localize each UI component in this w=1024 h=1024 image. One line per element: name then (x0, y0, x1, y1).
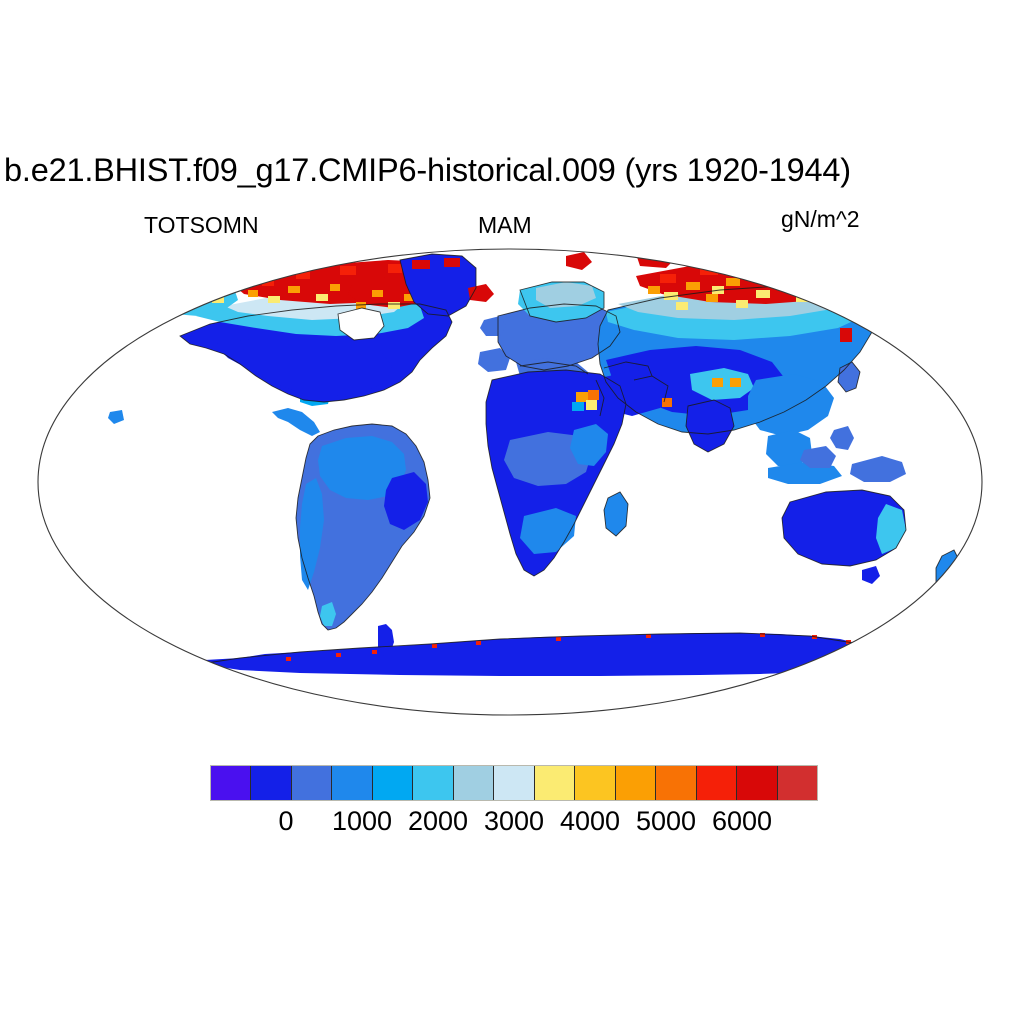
colorbar-cell-1 (251, 766, 291, 800)
colorbar-cell-11 (656, 766, 696, 800)
alaska-red-pixels (176, 284, 222, 297)
colorbar-cell-3 (332, 766, 372, 800)
colorbar-cell-14 (778, 766, 817, 800)
colorbar-tick-3000: 3000 (484, 806, 544, 837)
figure-canvas: b.e21.BHIST.f09_g17.CMIP6-historical.009… (0, 0, 1024, 1024)
colorbar-cell-0 (211, 766, 251, 800)
variable-label: TOTSOMN (144, 212, 259, 239)
world-map (0, 240, 1024, 730)
colorbar-cell-5 (413, 766, 453, 800)
arabia-orange-pixels (662, 398, 672, 407)
colorbar-tick-5000: 5000 (636, 806, 696, 837)
units-label: gN/m^2 (781, 206, 860, 233)
colorbar-cell-2 (292, 766, 332, 800)
colorbar-tick-1000: 1000 (332, 806, 392, 837)
season-label: MAM (478, 212, 532, 239)
map-svg (0, 240, 1024, 730)
colorbar-cell-12 (697, 766, 737, 800)
colorbar-cell-4 (373, 766, 413, 800)
colorbar-tick-6000: 6000 (712, 806, 772, 837)
colorbar-tick-2000: 2000 (408, 806, 468, 837)
colorbar-cell-6 (454, 766, 494, 800)
page-title: b.e21.BHIST.f09_g17.CMIP6-historical.009… (4, 152, 1022, 189)
map-data-layer (0, 240, 1024, 730)
colorbar-tick-labels: 0100020003000400050006000 (0, 806, 1024, 846)
colorbar-cell-8 (535, 766, 575, 800)
colorbar-tick-0: 0 (278, 806, 293, 837)
colorbar-cell-13 (737, 766, 777, 800)
colorbar-cell-10 (616, 766, 656, 800)
colorbar-tick-4000: 4000 (560, 806, 620, 837)
colorbar-cell-9 (575, 766, 615, 800)
colorbar-cell-7 (494, 766, 534, 800)
colorbar[interactable] (210, 765, 818, 801)
region-arctic-isles-ne (752, 246, 800, 262)
